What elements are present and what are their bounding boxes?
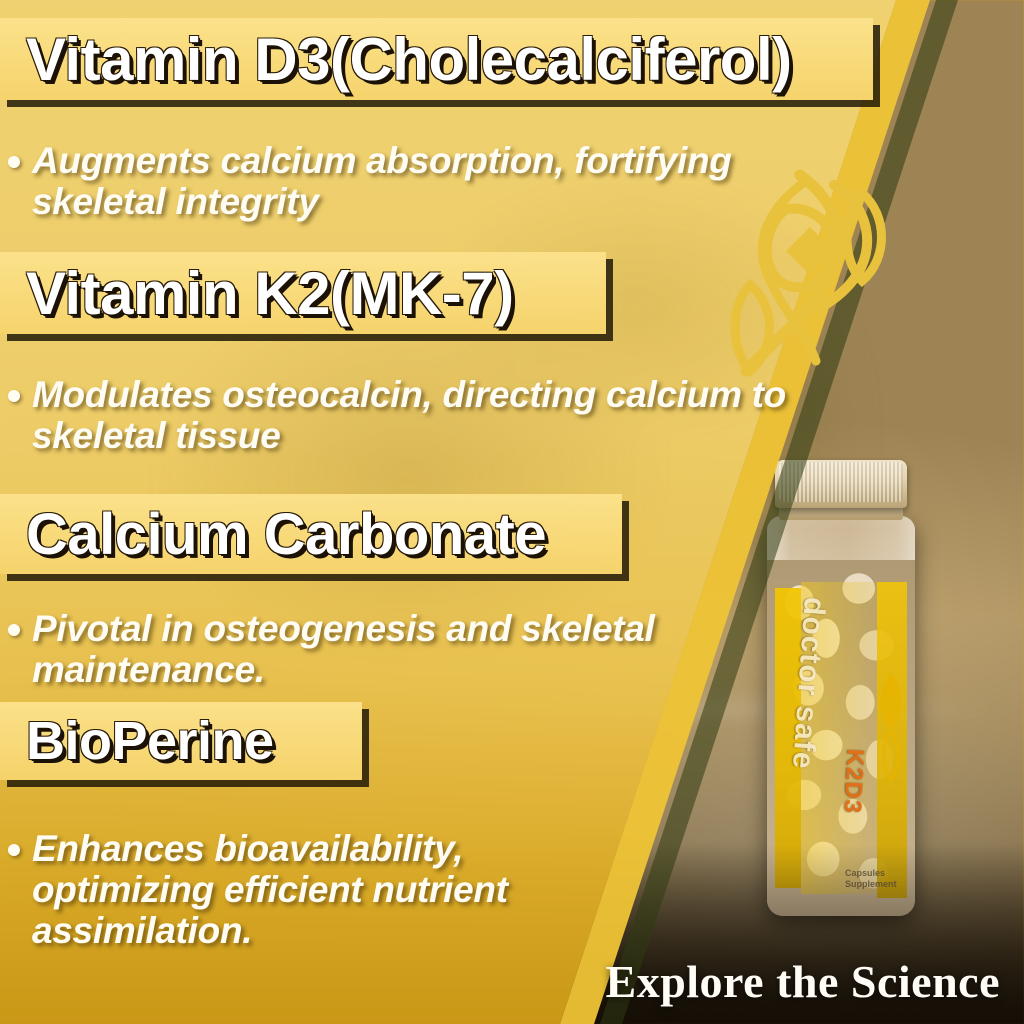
section-bullet-1: Augments calcium absorption, fortifying …: [0, 140, 768, 222]
tagline: Explore the Science: [606, 955, 1000, 1008]
section-bullet-3: Pivotal in osteogenesis and skeletal mai…: [0, 608, 708, 690]
poster-canvas: doctor safe K2D3 Capsules Supplement: [0, 0, 1024, 1024]
section-heading-band-2: Vitamin K2(MK-7): [0, 252, 606, 334]
bullet-dot-icon: [8, 844, 20, 856]
section-bullet-text-2: Modulates osteocalcin, directing calcium…: [32, 374, 808, 456]
bullet-dot-icon: [8, 390, 20, 402]
section-bullet-2: Modulates osteocalcin, directing calcium…: [0, 374, 808, 456]
bullet-dot-icon: [8, 624, 20, 636]
section-heading-band-3: Calcium Carbonate: [0, 494, 622, 574]
section-bullet-4: Enhances bioavailability, optimizing eff…: [0, 828, 628, 951]
section-bullet-text-1: Augments calcium absorption, fortifying …: [32, 140, 768, 222]
section-heading-1: Vitamin D3(Cholecalciferol): [0, 25, 806, 94]
section-bullet-text-4: Enhances bioavailability, optimizing eff…: [32, 828, 628, 951]
section-heading-2: Vitamin K2(MK-7): [0, 259, 528, 328]
section-heading-band-1: Vitamin D3(Cholecalciferol): [0, 18, 873, 100]
section-heading-4: BioPerine: [0, 710, 288, 772]
section-heading-3: Calcium Carbonate: [0, 501, 560, 568]
poster-content: Vitamin D3(Cholecalciferol) Augments cal…: [0, 0, 1024, 1024]
section-bullet-text-3: Pivotal in osteogenesis and skeletal mai…: [32, 608, 708, 690]
bullet-dot-icon: [8, 156, 20, 168]
section-heading-band-4: BioPerine: [0, 702, 362, 780]
